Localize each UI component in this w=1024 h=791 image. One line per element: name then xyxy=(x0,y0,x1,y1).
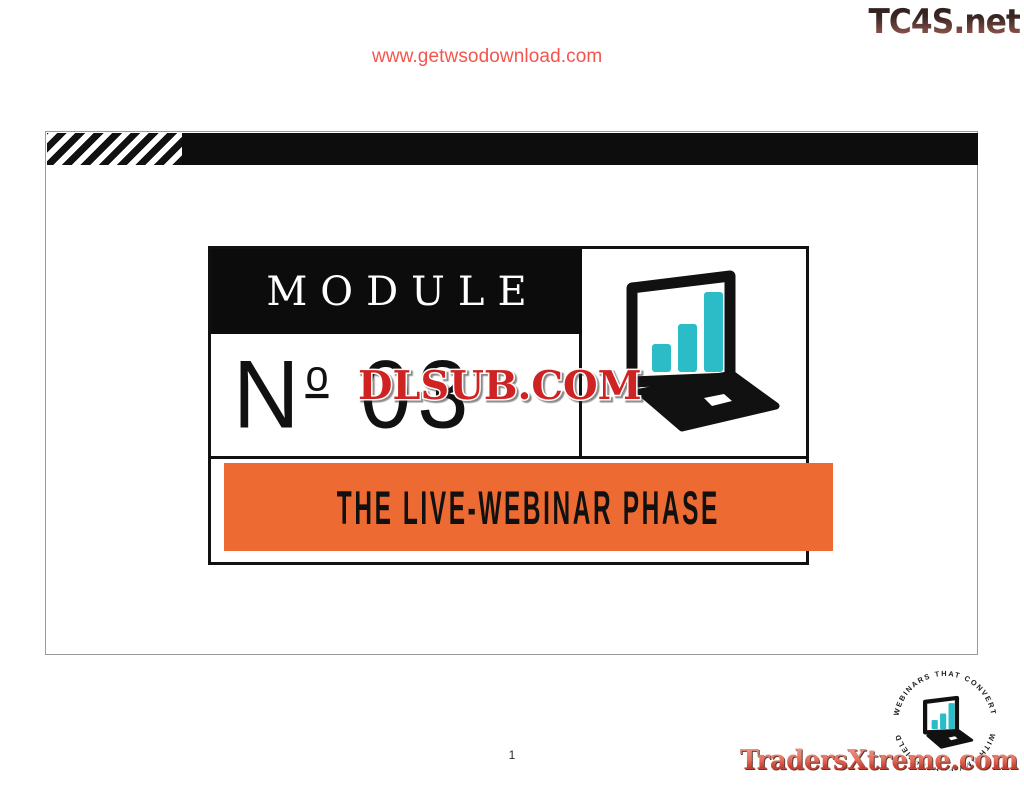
banner-title: THE LIVE-WEBINAR PHASE xyxy=(337,484,720,531)
tradersxtreme-watermark-logo: TradersXtreme.com xyxy=(718,744,1018,778)
module-label: MODULE xyxy=(253,269,539,315)
getwsodownload-watermark-url: www.getwsodownload.com xyxy=(372,46,602,68)
module-number-ordinal: o xyxy=(305,351,328,399)
tc4s-watermark-logo: TC4S.net xyxy=(843,2,1020,42)
laptop-bar-chart-icon xyxy=(604,270,784,435)
module-number-prefix: N xyxy=(233,341,305,448)
dlsub-overlay-watermark: DLSUB.COM xyxy=(358,364,642,408)
laptop-icon-cell xyxy=(582,249,806,459)
module-header-bar: MODULE xyxy=(211,249,582,334)
slide-top-bar xyxy=(47,133,978,165)
badge-laptop-icon xyxy=(925,698,972,747)
diagonal-stripes-decoration xyxy=(47,133,182,165)
badge-top-text: WEBINARS THAT CONVERT xyxy=(892,669,999,716)
banner-live-webinar-phase: THE LIVE-WEBINAR PHASE xyxy=(224,463,833,551)
